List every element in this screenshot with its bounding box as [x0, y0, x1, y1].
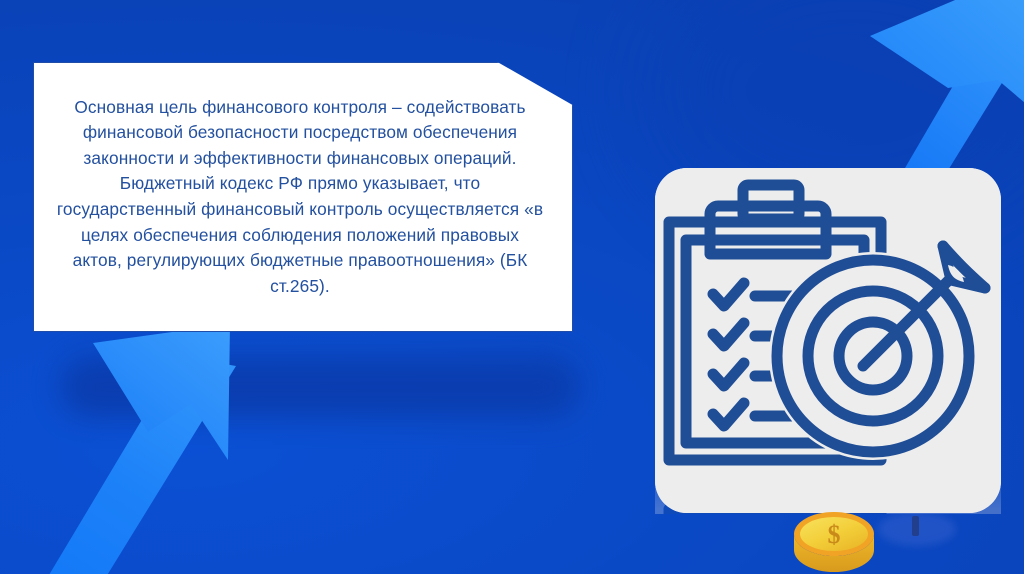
svg-text:$: $: [828, 520, 841, 549]
clipboard-checklist-with-target-and-arrow-icon: [655, 168, 1001, 513]
reflection-mark: [912, 516, 919, 536]
main-text-callout: Основная цель финансового контроля – сод…: [33, 62, 573, 332]
callout-body-text: Основная цель финансового контроля – сод…: [54, 95, 546, 300]
illustration-card: [655, 168, 1001, 513]
presentation-slide: Основная цель финансового контроля – сод…: [0, 0, 1024, 574]
callout-inner: Основная цель финансового контроля – сод…: [34, 85, 572, 310]
background-shadow-band: [60, 356, 580, 418]
dollar-coin-icon: $: [790, 512, 878, 574]
